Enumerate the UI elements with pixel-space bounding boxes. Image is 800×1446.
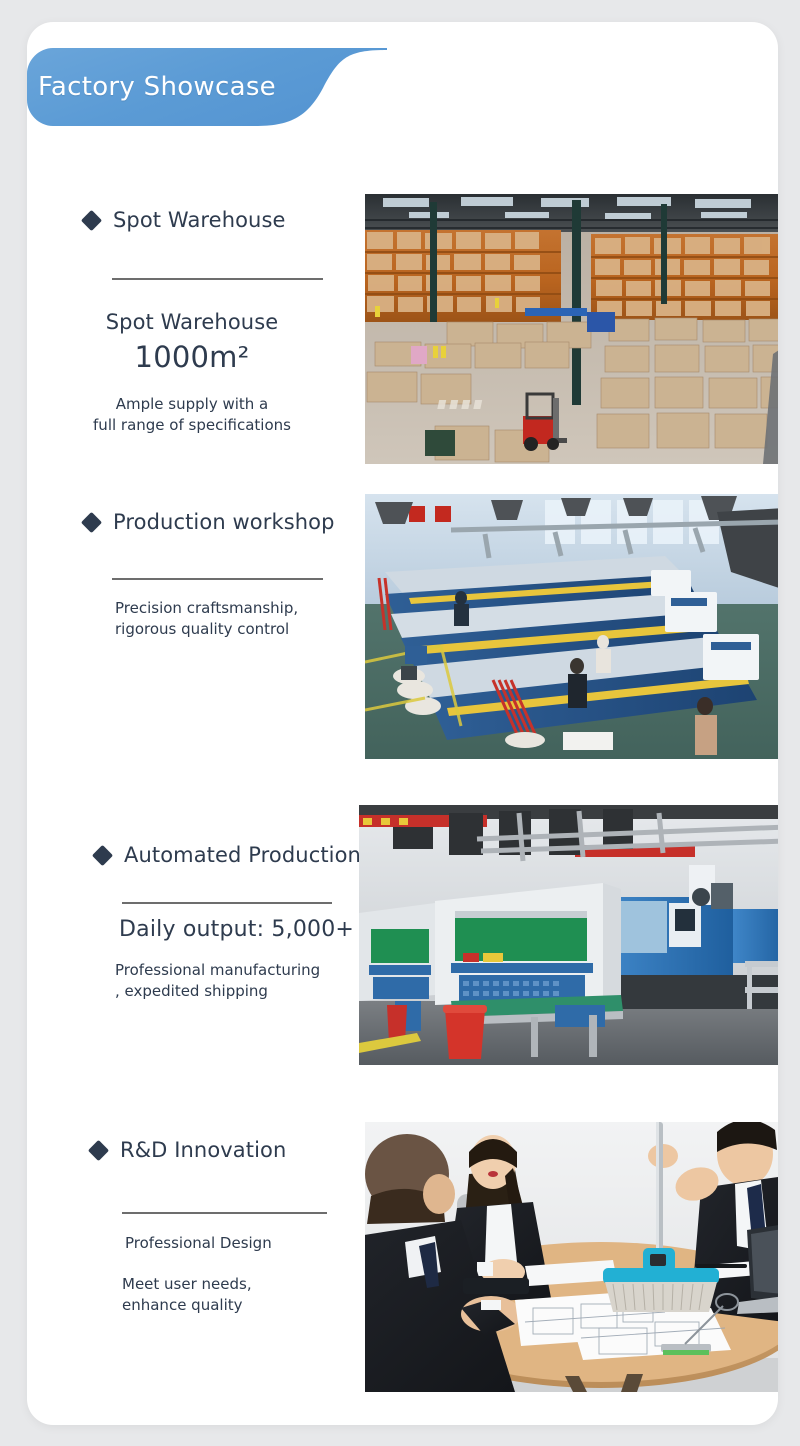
rnd-innovation-photo bbox=[365, 1122, 778, 1392]
section-4-sub-label: Professional Design bbox=[125, 1234, 272, 1252]
section-automated-production: Automated Production Daily output: 5,000… bbox=[27, 805, 778, 1065]
section-spot-warehouse: Spot Warehouse Spot Warehouse 1000m² Amp… bbox=[27, 194, 778, 464]
section-3-heading-label: Automated Production bbox=[124, 843, 361, 867]
section-2-heading-label: Production workshop bbox=[113, 510, 335, 534]
section-3-heading: Automated Production bbox=[95, 843, 361, 867]
page-root: Spot Warehouse Spot Warehouse 1000m² Amp… bbox=[0, 0, 800, 1446]
factory-showcase-card: Spot Warehouse Spot Warehouse 1000m² Amp… bbox=[27, 22, 778, 1425]
section-4-description: Meet user needs, enhance quality bbox=[122, 1274, 372, 1315]
section-1-heading-label: Spot Warehouse bbox=[113, 208, 286, 232]
section-2-heading: Production workshop bbox=[84, 510, 335, 534]
section-1-divider bbox=[112, 278, 323, 280]
section-3-stat-value: Daily output: 5,000+ bbox=[119, 917, 354, 942]
section-2-description-line2: rigorous quality control bbox=[115, 619, 355, 640]
section-1-description: Ample supply with a full range of specif… bbox=[27, 394, 357, 435]
section-4-heading: R&D Innovation bbox=[91, 1138, 286, 1162]
section-1-description-line2: full range of specifications bbox=[27, 415, 357, 436]
diamond-icon bbox=[81, 511, 102, 532]
section-4-heading-label: R&D Innovation bbox=[120, 1138, 286, 1162]
warehouse-photo bbox=[365, 194, 778, 464]
section-1-heading: Spot Warehouse bbox=[84, 208, 286, 232]
diamond-icon bbox=[81, 209, 102, 230]
section-rnd-innovation: R&D Innovation Professional Design Meet … bbox=[27, 1122, 778, 1392]
section-3-description-line1: Professional manufacturing bbox=[115, 960, 365, 981]
section-2-description: Precision craftsmanship, rigorous qualit… bbox=[115, 598, 355, 639]
production-workshop-photo bbox=[365, 494, 778, 759]
section-3-divider bbox=[122, 902, 332, 904]
section-3-description: Professional manufacturing , expedited s… bbox=[115, 960, 365, 1001]
section-2-divider bbox=[112, 578, 323, 580]
section-1-description-line1: Ample supply with a bbox=[27, 394, 357, 415]
section-4-divider bbox=[122, 1212, 327, 1214]
automated-production-photo bbox=[359, 805, 778, 1065]
section-3-description-line2: , expedited shipping bbox=[115, 981, 365, 1002]
section-1-stat-label: Spot Warehouse bbox=[27, 310, 357, 334]
section-2-description-line1: Precision craftsmanship, bbox=[115, 598, 355, 619]
diamond-icon bbox=[88, 1139, 109, 1160]
section-4-description-line1: Meet user needs, bbox=[122, 1274, 372, 1295]
section-4-description-line2: enhance quality bbox=[122, 1295, 372, 1316]
diamond-icon bbox=[92, 844, 113, 865]
section-1-stat-value: 1000m² bbox=[27, 340, 357, 374]
section-production-workshop: Production workshop Precision craftsmans… bbox=[27, 494, 778, 759]
header-title: Factory Showcase bbox=[38, 72, 276, 102]
